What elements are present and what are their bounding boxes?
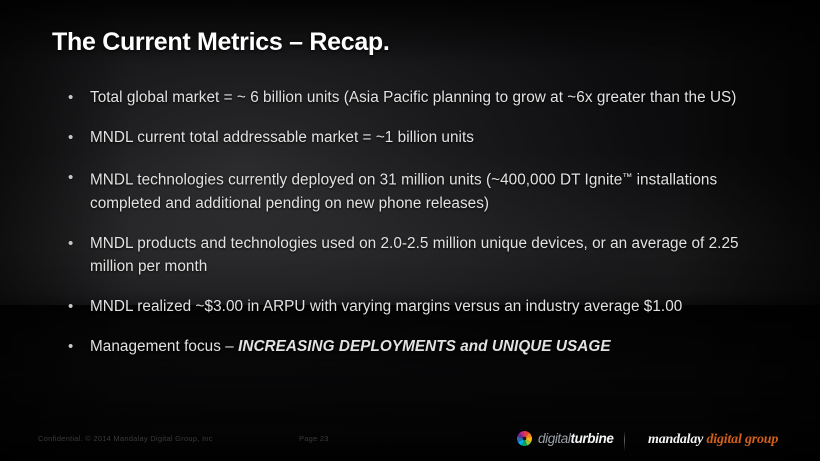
bullet-marker-icon: • bbox=[64, 335, 90, 358]
mandalay-word-mandalay: mandalay bbox=[648, 432, 703, 447]
page-number: Page 23 bbox=[299, 434, 329, 443]
slide-footer: Confidential. © 2014 Mandalay Digital Gr… bbox=[0, 425, 820, 461]
bullet-list: •Total global market = ~ 6 billion units… bbox=[64, 86, 772, 375]
bullet-text: Total global market = ~ 6 billion units … bbox=[90, 86, 772, 109]
bullet-text: MNDL realized ~$3.00 in ARPU with varyin… bbox=[90, 295, 772, 318]
bullet-text-run: MNDL products and technologies used on 2… bbox=[90, 235, 739, 275]
bullet-text-run: INCREASING DEPLOYMENTS and UNIQUE USAGE bbox=[238, 338, 611, 355]
bullet-marker-icon: • bbox=[64, 166, 90, 189]
dt-word-turbine: turbine bbox=[570, 431, 613, 446]
presentation-slide: The Current Metrics – Recap. •Total glob… bbox=[0, 0, 820, 461]
mandalay-digital-group-logo: mandalay digital group bbox=[648, 432, 778, 448]
mandalay-word-digital-group: digital group bbox=[703, 432, 778, 447]
footer-logo-divider bbox=[624, 431, 625, 451]
digital-turbine-logo: digitalturbine bbox=[516, 430, 613, 447]
bullet-text-run: ™ bbox=[622, 172, 632, 183]
bullet-marker-icon: • bbox=[64, 232, 90, 255]
bullet-marker-icon: • bbox=[64, 86, 90, 109]
bullet-text: MNDL technologies currently deployed on … bbox=[90, 166, 772, 215]
bullet-item: •MNDL products and technologies used on … bbox=[64, 232, 772, 278]
bullet-item: •Total global market = ~ 6 billion units… bbox=[64, 86, 772, 109]
bullet-item: •Management focus – INCREASING DEPLOYMEN… bbox=[64, 335, 772, 358]
dt-word-digital: digital bbox=[538, 431, 570, 446]
bullet-text: MNDL current total addressable market = … bbox=[90, 126, 772, 149]
digital-turbine-wordmark: digitalturbine bbox=[538, 431, 613, 446]
bullet-marker-icon: • bbox=[64, 126, 90, 149]
bullet-text-run: Management focus – bbox=[90, 338, 238, 355]
bullet-text-run: MNDL current total addressable market = … bbox=[90, 129, 474, 146]
confidential-notice: Confidential. © 2014 Mandalay Digital Gr… bbox=[38, 434, 213, 443]
bullet-item: •MNDL technologies currently deployed on… bbox=[64, 166, 772, 215]
slide-title: The Current Metrics – Recap. bbox=[52, 28, 390, 57]
bullet-text-run: Total global market = ~ 6 billion units … bbox=[90, 89, 736, 106]
bullet-item: •MNDL realized ~$3.00 in ARPU with varyi… bbox=[64, 295, 772, 318]
bullet-marker-icon: • bbox=[64, 295, 90, 318]
bullet-item: •MNDL current total addressable market =… bbox=[64, 126, 772, 149]
bullet-text: Management focus – INCREASING DEPLOYMENT… bbox=[90, 335, 772, 358]
bullet-text: MNDL products and technologies used on 2… bbox=[90, 232, 772, 278]
pinwheel-icon bbox=[516, 430, 533, 447]
bullet-text-run: MNDL realized ~$3.00 in ARPU with varyin… bbox=[90, 298, 682, 315]
bullet-text-run: MNDL technologies currently deployed on … bbox=[90, 172, 622, 189]
